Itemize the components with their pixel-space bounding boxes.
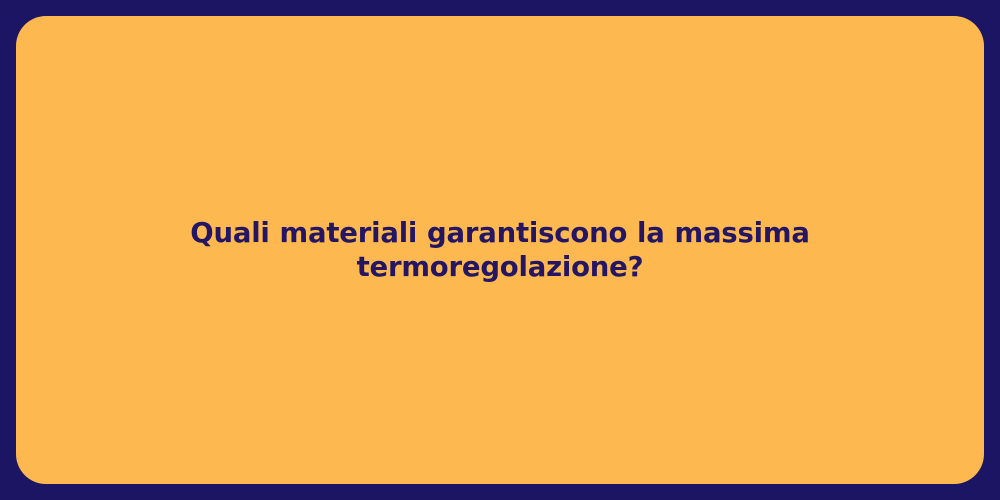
question-title: Quali materiali garantiscono la massima …	[60, 216, 940, 285]
question-panel: Quali materiali garantiscono la massima …	[16, 16, 984, 484]
faq-question-card: Quali materiali garantiscono la massima …	[0, 0, 1000, 500]
